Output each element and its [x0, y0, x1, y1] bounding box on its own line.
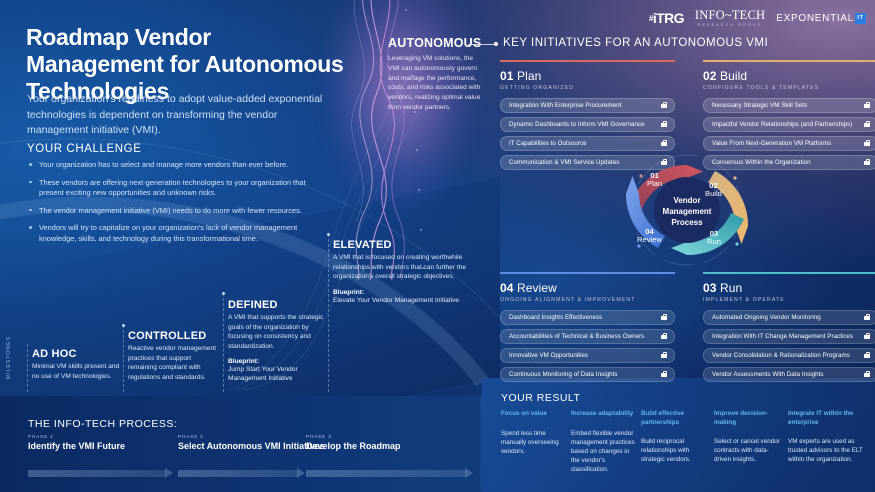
milestone-divider — [223, 293, 224, 392]
cycle-marker-dot — [733, 176, 736, 179]
exponential-it-badge: IT — [855, 13, 866, 24]
milestone-name: DEFINED — [228, 299, 328, 311]
initiative-label: Vendor Assessments With Data Insights — [712, 371, 824, 378]
initiative-chip[interactable]: Automated Ongoing Vendor Monitoring — [703, 310, 875, 325]
lock-icon — [864, 121, 870, 127]
vendor-management-cycle: 01 Plan 02 Build 03 Run 04 Review Vendor… — [611, 152, 763, 268]
lock-icon — [661, 371, 667, 377]
initiative-label: Communication & VMI Service Updates — [509, 159, 619, 166]
initiative-label: Dynamic Dashboards to Inform VMI Governa… — [509, 121, 645, 128]
autonomous-body: Leveraging VM solutions, the VMI can aut… — [388, 54, 484, 113]
panel-title: 02 Build — [703, 69, 875, 83]
milestone-dot — [122, 324, 125, 327]
lock-icon — [661, 333, 667, 339]
result-head: Build effective partnerships — [641, 410, 709, 427]
panel-number: 02 — [703, 69, 717, 83]
panel-accent-bar — [500, 272, 675, 274]
initiative-label: Impactful Vendor Relationships (and Part… — [712, 121, 852, 128]
initiative-chip[interactable]: Innovative VM Opportunities — [500, 348, 675, 363]
connector-dot-icon — [494, 42, 498, 46]
logo-group: #iTRG INFO~TECH RESEARCH GROUP EXPONENTI… — [649, 9, 866, 27]
lock-icon — [864, 102, 870, 108]
initiative-chip[interactable]: Impactful Vendor Relationships (and Part… — [703, 117, 875, 132]
panel-name: Build — [720, 69, 747, 83]
result-text: Select or cancel vendor contracts with d… — [714, 437, 782, 464]
phase-arrow — [28, 470, 166, 477]
milestone-divider — [27, 344, 28, 392]
phase-label: PHASE 3 — [306, 434, 456, 439]
panel-run: 03 Run IMPLEMENT & OPERATE Automated Ong… — [703, 272, 875, 386]
lock-icon — [661, 121, 667, 127]
panel-review: 04 Review ONGOING ALIGNMENT & IMPROVEMEN… — [500, 272, 675, 386]
panel-subtitle: GETTING ORGANIZED — [500, 85, 675, 91]
phase-arrow — [178, 470, 298, 477]
connector-line — [468, 44, 496, 45]
challenge-list: Your organization has to select and mana… — [27, 160, 327, 251]
itrg-wordmark: iTRG — [653, 10, 684, 26]
result-head: Improve decision-making — [714, 410, 782, 427]
itrg-logo: #iTRG — [649, 10, 684, 26]
initiative-label: Vendor Consolidation & Rationalization P… — [712, 352, 850, 359]
panel-name: Review — [517, 281, 557, 295]
infotech-tagline: RESEARCH GROUP — [698, 24, 763, 28]
autonomous-heading: AUTONOMOUS — [388, 36, 484, 50]
milestone-dot — [222, 292, 225, 295]
process-phase-3: PHASE 3 Develop the Roadmap — [306, 434, 456, 453]
panel-name: Run — [720, 281, 742, 295]
panel-accent-bar — [703, 60, 875, 62]
panel-number: 03 — [703, 281, 717, 295]
initiative-label: Dashboard Insights Effectiveness — [509, 314, 602, 321]
infographic-page: #iTRG INFO~TECH RESEARCH GROUP EXPONENTI… — [0, 0, 875, 492]
lock-icon — [864, 140, 870, 146]
initiative-label: Accountabilities of Technical & Business… — [509, 333, 644, 340]
panel-number: 04 — [500, 281, 514, 295]
panel-accent-bar — [703, 272, 875, 274]
result-head: Focus on value — [501, 410, 569, 419]
initiative-chip[interactable]: Necessary Strategic VM Skill Sets — [703, 98, 875, 113]
lock-icon — [661, 102, 667, 108]
panel-subtitle: IMPLEMENT & OPERATE — [703, 297, 875, 303]
milestone-elevated: ELEVATED A VMI that is focused on creati… — [333, 239, 485, 305]
panel-subtitle: CONFIGURE TOOLS & TEMPLATES — [703, 85, 875, 91]
result-column: Increase adaptability Embed flexible ven… — [571, 410, 639, 474]
initiative-chip[interactable]: Accountabilities of Technical & Business… — [500, 329, 675, 344]
infotech-wordmark: INFO~TECH — [695, 9, 765, 22]
challenge-bullet: Your organization has to select and mana… — [27, 160, 327, 171]
milestone-name: AD HOC — [32, 348, 128, 360]
milestone-blueprint-title: Jump Start Your Vendor Management Initia… — [228, 365, 328, 383]
lock-icon — [661, 140, 667, 146]
milestone-blueprint-title: Elevate Your Vendor Management Initiativ… — [333, 296, 485, 305]
cycle-marker-dot — [639, 174, 642, 177]
result-head: Increase adaptability — [571, 410, 639, 419]
initiative-label: Automated Ongoing Vendor Monitoring — [712, 314, 821, 321]
milestone-blueprint-label: Blueprint: — [333, 289, 485, 296]
result-column: Improve decision-making Select or cancel… — [714, 410, 782, 464]
milestone-ad-hoc: AD HOC Minimal VM skills present and no … — [32, 348, 128, 381]
milestone-body: A VMI that supports the strategic goals … — [228, 313, 328, 351]
milestone-name: ELEVATED — [333, 239, 485, 251]
initiative-label: Integration With IT Change Management Pr… — [712, 333, 853, 340]
result-text: Spend less time manually overseeing vend… — [501, 429, 569, 456]
initiative-chip[interactable]: Integration With IT Change Management Pr… — [703, 329, 875, 344]
cycle-marker-dot — [735, 242, 738, 245]
initiative-chip[interactable]: Value From Next-Generation VM Platforms — [703, 136, 875, 151]
initiative-label: IT Capabilities to Outsource — [509, 140, 587, 147]
result-text: Embed flexible vendor management practic… — [571, 429, 639, 475]
challenge-bullet: Vendors will try to capitalize on your o… — [27, 223, 327, 244]
key-initiatives-heading: KEY INITIATIVES FOR AN AUTONOMOUS VMI — [503, 37, 768, 49]
cycle-marker-dot — [637, 244, 640, 247]
lock-icon — [661, 314, 667, 320]
initiative-chip[interactable]: Dynamic Dashboards to Inform VMI Governa… — [500, 117, 675, 132]
challenge-bullet: These vendors are offering next-generati… — [27, 178, 327, 199]
challenge-heading: YOUR CHALLENGE — [27, 143, 141, 155]
milestone-body: A VMI that is focused on creating worthw… — [333, 253, 485, 282]
lock-icon — [864, 314, 870, 320]
milestone-controlled: CONTROLLED Reactive vendor management pr… — [128, 330, 220, 382]
phase-arrow — [306, 470, 466, 477]
phase-label: PHASE 1 — [28, 434, 168, 439]
initiative-chip[interactable]: IT Capabilities to Outsource — [500, 136, 675, 151]
challenge-bullet: The vendor management initiative (VMI) n… — [27, 206, 327, 217]
initiative-chip[interactable]: Vendor Consolidation & Rationalization P… — [703, 348, 875, 363]
lock-icon — [864, 352, 870, 358]
result-column: Build effective partnerships Build recip… — [641, 410, 709, 464]
panel-title: 03 Run — [703, 281, 875, 295]
milestone-body: Reactive vendor management practices tha… — [128, 344, 220, 382]
page-subtitle: Your organization's readiness to adopt v… — [27, 92, 337, 139]
milestone-name: CONTROLLED — [128, 330, 220, 342]
exponential-it-logo: EXPONENTIALIT — [776, 13, 866, 24]
process-phase-1: PHASE 1 Identify the VMI Future — [28, 434, 168, 453]
lock-icon — [864, 333, 870, 339]
milestones-axis-label: MILESTONES — [6, 336, 12, 379]
result-text: VM experts are used as trusted advisors … — [788, 437, 866, 464]
initiative-chip[interactable]: Dashboard Insights Effectiveness — [500, 310, 675, 325]
initiative-label: Value From Next-Generation VM Platforms — [712, 140, 831, 147]
cycle-center-label: Vendor Management Process — [652, 196, 722, 228]
initiative-label: Necessary Strategic VM Skill Sets — [712, 102, 807, 109]
initiative-label: Innovative VM Opportunities — [509, 352, 588, 359]
panel-subtitle: ONGOING ALIGNMENT & IMPROVEMENT — [500, 297, 675, 303]
panel-name: Plan — [517, 69, 541, 83]
milestone-dot — [327, 233, 330, 236]
initiative-chip[interactable]: Integration With Enterprise Procurement — [500, 98, 675, 113]
milestone-blueprint-label: Blueprint: — [228, 358, 328, 365]
result-head: Integrate IT within the enterprise — [788, 410, 866, 427]
initiative-label: Continuous Monitoring of Data Insights — [509, 371, 618, 378]
panel-title: 04 Review — [500, 281, 675, 295]
autonomous-callout: AUTONOMOUS Leveraging VM solutions, the … — [388, 36, 484, 113]
milestone-divider — [328, 234, 329, 392]
phase-title: Identify the VMI Future — [28, 441, 168, 453]
lock-icon — [661, 352, 667, 358]
phase-title: Develop the Roadmap — [306, 441, 456, 453]
infotech-logo: INFO~TECH RESEARCH GROUP — [695, 9, 765, 27]
lock-icon — [864, 159, 870, 165]
panel-number: 01 — [500, 69, 514, 83]
result-column: Focus on value Spend less time manually … — [501, 410, 569, 456]
milestone-body: Minimal VM skills present and no use of … — [32, 362, 128, 381]
result-heading: YOUR RESULT — [501, 392, 580, 404]
panel-accent-bar — [500, 60, 675, 62]
result-text: Build reciprocal relationships with stra… — [641, 437, 709, 464]
exponential-wordmark: EXPONENTIAL — [776, 13, 854, 24]
result-column: Integrate IT within the enterprise VM ex… — [788, 410, 866, 464]
initiative-chip[interactable]: Vendor Assessments With Data Insights — [703, 367, 875, 382]
panel-title: 01 Plan — [500, 69, 675, 83]
process-heading: THE INFO-TECH PROCESS: — [28, 418, 177, 430]
initiative-chip[interactable]: Continuous Monitoring of Data Insights — [500, 367, 675, 382]
milestone-defined: DEFINED A VMI that supports the strategi… — [228, 299, 328, 384]
initiative-label: Integration With Enterprise Procurement — [509, 102, 621, 109]
lock-icon — [864, 371, 870, 377]
